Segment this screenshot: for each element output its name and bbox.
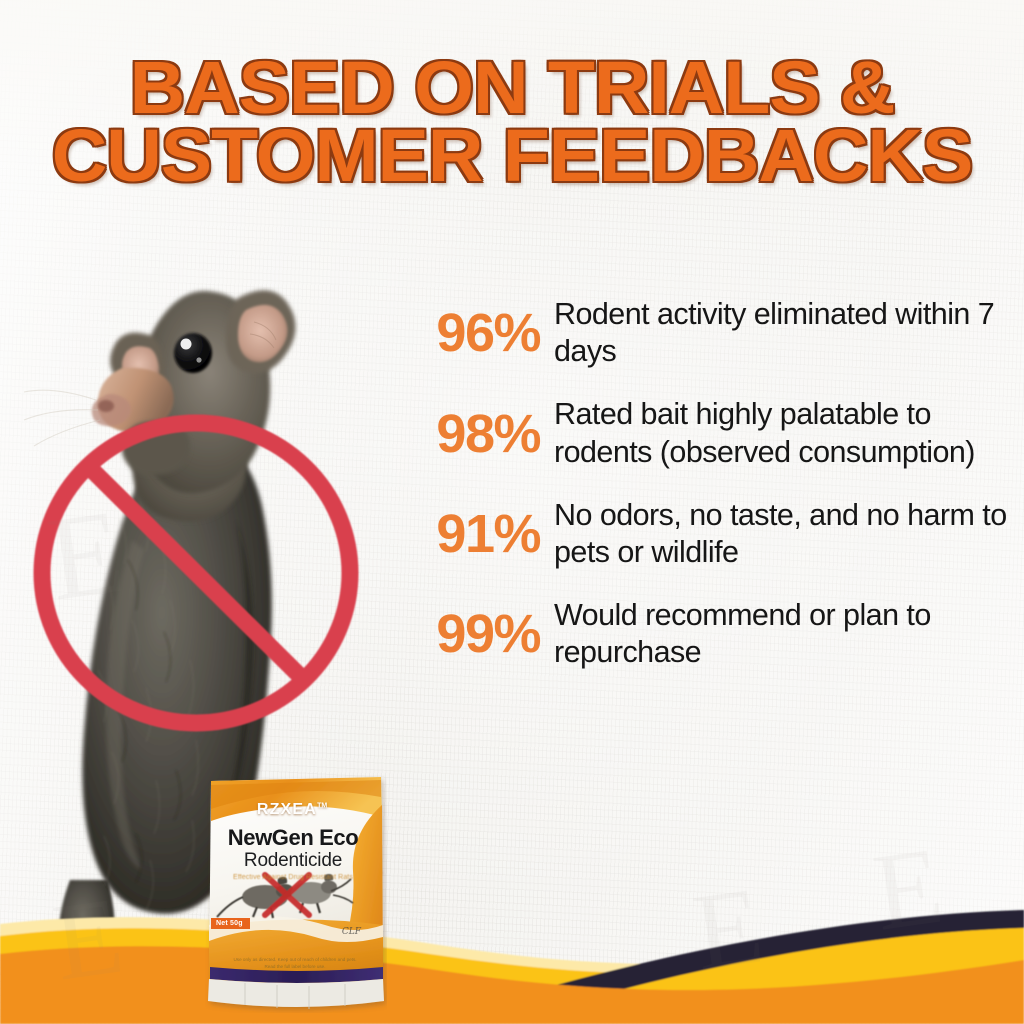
stat-percent: 99% xyxy=(412,607,554,661)
headline-line-1: BASED ON TRIALS & xyxy=(0,56,1024,120)
stat-row: 91% No odors, no taste, and no harm to p… xyxy=(412,497,1020,571)
stat-percent: 91% xyxy=(412,507,554,561)
stat-description: Rated bait highly palatable to rodents (… xyxy=(554,396,1020,470)
product-packet[interactable]: RZXEATM NewGen Eco Rodenticide Effective… xyxy=(205,775,387,1013)
stat-row: 96% Rodent activity eliminated within 7 … xyxy=(412,296,1020,370)
stats-list: 96% Rodent activity eliminated within 7 … xyxy=(412,296,1020,672)
stat-row: 98% Rated bait highly palatable to roden… xyxy=(412,396,1020,470)
poster-canvas: BASED ON TRIALS & CUSTOMER FEEDBACKS xyxy=(0,0,1024,1024)
bottom-wave-band xyxy=(0,884,1024,1024)
stat-percent: 96% xyxy=(412,306,554,360)
headline: BASED ON TRIALS & CUSTOMER FEEDBACKS xyxy=(0,56,1024,187)
stat-description: Rodent activity eliminated within 7 days xyxy=(554,296,1020,370)
headline-line-2: CUSTOMER FEEDBACKS xyxy=(0,124,1024,188)
stat-row: 99% Would recommend or plan to repurchas… xyxy=(412,597,1020,671)
stat-description: Would recommend or plan to repurchase xyxy=(554,597,1020,671)
stat-percent: 98% xyxy=(412,407,554,461)
stat-description: No odors, no taste, and no harm to pets … xyxy=(554,497,1020,571)
